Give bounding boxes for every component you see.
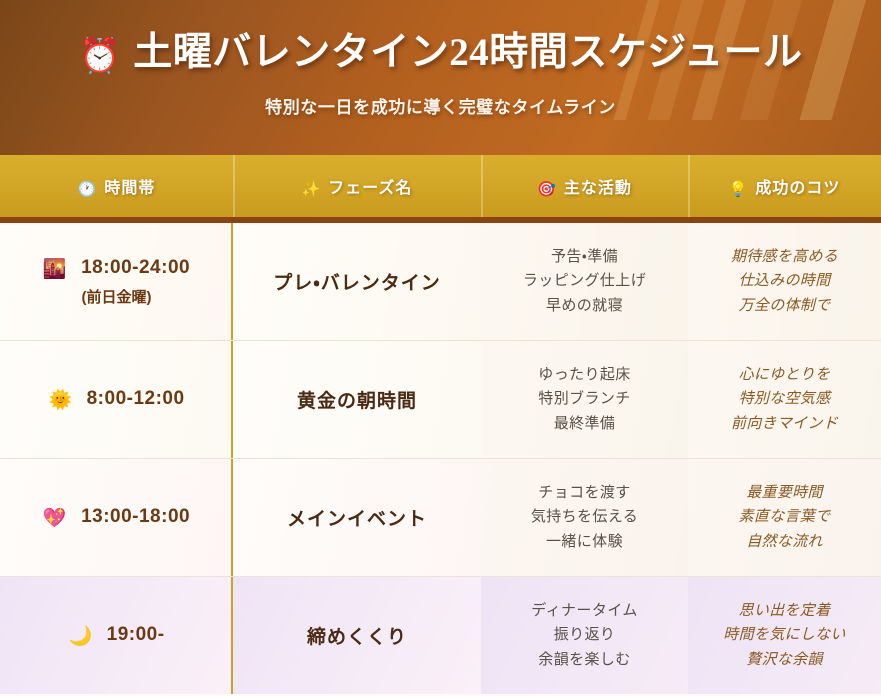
sun-icon: 🌞 — [48, 389, 72, 411]
tip-line: 思い出を定着 — [698, 599, 871, 623]
cell-time: 🌇18:00-24:00 (前日金曜) — [0, 220, 233, 341]
dart-icon: 🎯 — [537, 180, 557, 198]
activity-line: 気持ちを伝える — [491, 505, 678, 529]
table-row: 🌙19:00- 締めくくり ディナータイム 振り返り 余韻を楽しむ 思い出を定着… — [0, 577, 881, 695]
activity-line: ゆったり起床 — [491, 363, 678, 387]
column-header-time-label: 時間帯 — [104, 180, 155, 197]
activity-line: 一緒に体験 — [491, 530, 678, 554]
activity-line: 余韻を楽しむ — [491, 648, 678, 672]
tip-line: 時間を気にしない — [698, 623, 871, 647]
tip-line: 期待感を高める — [698, 245, 871, 269]
column-header-tips-label: 成功のコツ — [755, 180, 840, 197]
activity-line: 特別ブランチ — [491, 387, 678, 411]
cell-tips: 期待感を高める 仕込みの時間 万全の体制で — [688, 220, 881, 341]
crescent-moon-icon: 🌙 — [68, 625, 92, 647]
activity-line: 最終準備 — [491, 412, 678, 436]
cell-activity: ディナータイム 振り返り 余韻を楽しむ — [481, 577, 688, 695]
clock-icon: 🕐 — [78, 180, 98, 198]
phase-name: 黄金の朝時間 — [243, 386, 471, 413]
cell-time: 🌙19:00- — [0, 577, 233, 695]
column-header-time: 🕐時間帯 — [0, 155, 233, 220]
schedule-page: ⏰土曜バレンタイン24時間スケジュール 特別な一日を成功に導く完璧なタイムライン… — [0, 0, 881, 696]
tip-line: 自然な流れ — [698, 530, 871, 554]
tip-line: 万全の体制で — [698, 294, 871, 318]
sunset-icon: 🌇 — [43, 258, 67, 280]
tip-line: 前向きマインド — [698, 412, 871, 436]
time-range-text: 18:00-24:00 — [81, 257, 190, 278]
time-range-text: 19:00- — [107, 624, 165, 645]
cell-activity: ゆったり起床 特別ブランチ 最終準備 — [481, 341, 688, 459]
time-range: 💖13:00-18:00 — [10, 506, 223, 529]
page-title: ⏰土曜バレンタイン24時間スケジュール — [0, 30, 881, 77]
column-header-activity: 🎯主な活動 — [481, 155, 688, 220]
sparkling-heart-icon: 💖 — [43, 507, 67, 529]
light-bulb-icon: 💡 — [729, 180, 749, 198]
activity-line: 振り返り — [491, 623, 678, 647]
table-row: 💖13:00-18:00 メインイベント チョコを渡す 気持ちを伝える 一緒に体… — [0, 459, 881, 577]
table-body: 🌇18:00-24:00 (前日金曜) プレ・バレンタイン 予告・準備 ラッピン… — [0, 220, 881, 694]
tip-line: 素直な言葉で — [698, 505, 871, 529]
cell-time: 🌞8:00-12:00 — [0, 341, 233, 459]
time-range-text: 8:00-12:00 — [87, 388, 185, 409]
page-subtitle: 特別な一日を成功に導く完璧なタイムライン — [0, 93, 881, 118]
header-content: ⏰土曜バレンタイン24時間スケジュール 特別な一日を成功に導く完璧なタイムライン — [0, 0, 881, 118]
table-row: 🌇18:00-24:00 (前日金曜) プレ・バレンタイン 予告・準備 ラッピン… — [0, 220, 881, 341]
time-range: 🌞8:00-12:00 — [10, 388, 223, 411]
cell-phase: 締めくくり — [233, 577, 481, 695]
cell-phase: メインイベント — [233, 459, 481, 577]
activity-line: 予告・準備 — [491, 245, 678, 269]
tip-line: 心にゆとりを — [698, 363, 871, 387]
phase-name: プレ・バレンタイン — [243, 268, 471, 295]
cell-tips: 最重要時間 素直な言葉で 自然な流れ — [688, 459, 881, 577]
column-header-tips: 💡成功のコツ — [688, 155, 881, 220]
sparkles-icon: ✨ — [302, 180, 322, 198]
tip-line: 最重要時間 — [698, 481, 871, 505]
cell-phase: 黄金の朝時間 — [233, 341, 481, 459]
tip-line: 特別な空気感 — [698, 387, 871, 411]
time-range: 🌇18:00-24:00 — [10, 257, 223, 280]
time-note: (前日金曜) — [10, 286, 223, 307]
time-range-text: 13:00-18:00 — [81, 506, 190, 527]
page-title-text: 土曜バレンタイン24時間スケジュール — [133, 31, 802, 74]
column-header-activity-label: 主な活動 — [564, 180, 632, 197]
column-header-phase: ✨フェーズ名 — [233, 155, 481, 220]
activity-line: チョコを渡す — [491, 481, 678, 505]
time-range: 🌙19:00- — [10, 624, 223, 647]
tip-line: 仕込みの時間 — [698, 269, 871, 293]
activity-line: ディナータイム — [491, 599, 678, 623]
table-header: 🕐時間帯 ✨フェーズ名 🎯主な活動 💡成功のコツ — [0, 155, 881, 220]
table-row: 🌞8:00-12:00 黄金の朝時間 ゆったり起床 特別ブランチ 最終準備 心に… — [0, 341, 881, 459]
activity-line: 早めの就寝 — [491, 294, 678, 318]
column-header-phase-label: フェーズ名 — [328, 180, 412, 197]
cell-activity: チョコを渡す 気持ちを伝える 一緒に体験 — [481, 459, 688, 577]
phase-name: メインイベント — [243, 504, 471, 531]
table-header-row: 🕐時間帯 ✨フェーズ名 🎯主な活動 💡成功のコツ — [0, 155, 881, 220]
tip-line: 贅沢な余韻 — [698, 648, 871, 672]
cell-tips: 心にゆとりを 特別な空気感 前向きマインド — [688, 341, 881, 459]
alarm-clock-icon: ⏰ — [78, 36, 121, 76]
page-header-banner: ⏰土曜バレンタイン24時間スケジュール 特別な一日を成功に導く完璧なタイムライン — [0, 0, 881, 155]
cell-activity: 予告・準備 ラッピング仕上げ 早めの就寝 — [481, 220, 688, 341]
cell-time: 💖13:00-18:00 — [0, 459, 233, 577]
schedule-table: 🕐時間帯 ✨フェーズ名 🎯主な活動 💡成功のコツ 🌇18:00-24:00 — [0, 155, 881, 694]
cell-phase: プレ・バレンタイン — [233, 220, 481, 341]
cell-tips: 思い出を定着 時間を気にしない 贅沢な余韻 — [688, 577, 881, 695]
phase-name: 締めくくり — [243, 622, 471, 649]
activity-line: ラッピング仕上げ — [491, 269, 678, 293]
